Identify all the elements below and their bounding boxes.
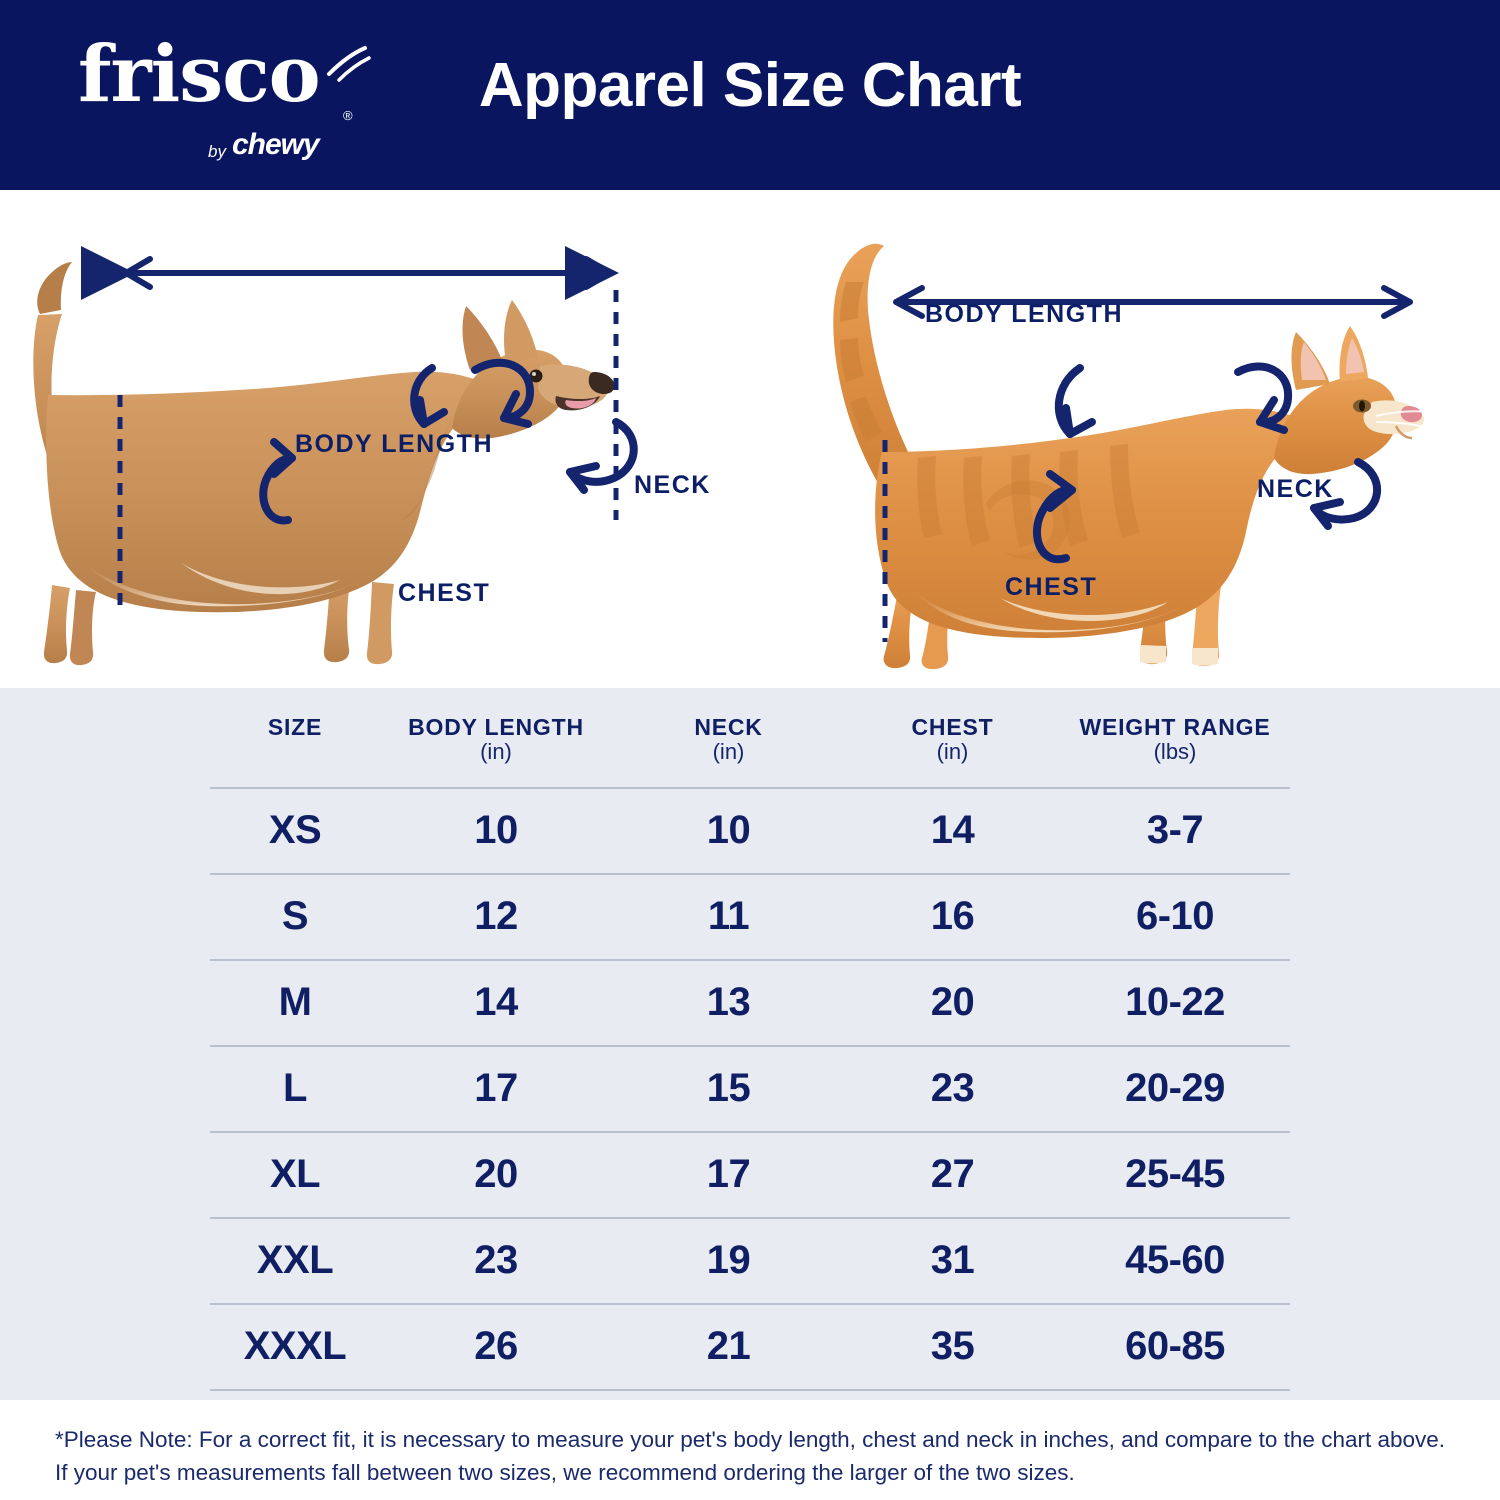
cat-neck-label: NECK: [1257, 475, 1334, 504]
cell-size: XXL: [210, 1218, 380, 1304]
column-header-body-length-label: BODY LENGTH: [408, 714, 584, 740]
cell-weight: 20-29: [1060, 1046, 1290, 1132]
column-header-body-length: BODY LENGTH (in): [380, 688, 612, 788]
cat-measurement-diagram: BODY LENGTH NECK CHEST: [750, 190, 1500, 688]
illustration-band: BODY LENGTH NECK CHEST: [0, 190, 1500, 688]
cell-size: S: [210, 874, 380, 960]
cell-weight: 3-7: [1060, 788, 1290, 874]
dog-neck-label: NECK: [634, 471, 711, 500]
cell-body-length: 20: [380, 1132, 612, 1218]
column-header-chest-label: CHEST: [912, 714, 994, 740]
cell-chest: 35: [845, 1304, 1060, 1390]
cell-chest: 23: [845, 1046, 1060, 1132]
cat-body-length-label: BODY LENGTH: [925, 300, 1123, 329]
cell-neck: 15: [612, 1046, 845, 1132]
header-bar: frisco ® by chewy Apparel Size Chart: [0, 0, 1500, 190]
cell-weight: 60-85: [1060, 1304, 1290, 1390]
cat-illustration: [750, 190, 1500, 688]
cell-chest: 14: [845, 788, 1060, 874]
table-header: SIZE BODY LENGTH (in) NECK (in) CHEST (i…: [210, 688, 1290, 788]
cell-chest: 27: [845, 1132, 1060, 1218]
cell-body-length: 10: [380, 788, 612, 874]
cell-size: XL: [210, 1132, 380, 1218]
cell-body-length: 26: [380, 1304, 612, 1390]
header-row: SIZE BODY LENGTH (in) NECK (in) CHEST (i…: [210, 688, 1290, 788]
cell-chest: 31: [845, 1218, 1060, 1304]
cat-chest-label: CHEST: [1005, 573, 1097, 602]
cell-weight: 10-22: [1060, 960, 1290, 1046]
table-row: L 17 15 23 20-29: [210, 1046, 1290, 1132]
column-header-neck-unit: (in): [612, 740, 845, 765]
cell-chest: 16: [845, 874, 1060, 960]
cell-weight: 6-10: [1060, 874, 1290, 960]
column-header-neck: NECK (in): [612, 688, 845, 788]
cell-neck: 17: [612, 1132, 845, 1218]
cell-body-length: 23: [380, 1218, 612, 1304]
size-chart-table: SIZE BODY LENGTH (in) NECK (in) CHEST (i…: [210, 688, 1290, 1391]
footnote-section: *Please Note: For a correct fit, it is n…: [0, 1400, 1500, 1500]
table-row: XXXL 26 21 35 60-85: [210, 1304, 1290, 1390]
column-header-weight-range-unit: (lbs): [1060, 740, 1290, 765]
cell-body-length: 17: [380, 1046, 612, 1132]
footnote-text: *Please Note: For a correct fit, it is n…: [55, 1424, 1450, 1489]
column-header-size-label: SIZE: [268, 714, 322, 740]
logo-by-text: by: [208, 142, 226, 162]
cell-size: XS: [210, 788, 380, 874]
column-header-chest: CHEST (in): [845, 688, 1060, 788]
cell-size: L: [210, 1046, 380, 1132]
cell-neck: 13: [612, 960, 845, 1046]
apparel-size-chart-page: frisco ® by chewy Apparel Size Chart: [0, 0, 1500, 1500]
column-header-weight-range: WEIGHT RANGE (lbs): [1060, 688, 1290, 788]
cell-body-length: 12: [380, 874, 612, 960]
table-body: XS 10 10 14 3-7 S 12 11 16 6-10 M 14 13: [210, 788, 1290, 1390]
table-row: S 12 11 16 6-10: [210, 874, 1290, 960]
dog-measurement-diagram: BODY LENGTH NECK CHEST: [0, 190, 750, 688]
table-row: XXL 23 19 31 45-60: [210, 1218, 1290, 1304]
page-title: Apparel Size Chart: [0, 50, 1500, 121]
dog-chest-label: CHEST: [398, 579, 490, 608]
column-header-chest-unit: (in): [845, 740, 1060, 765]
column-header-size: SIZE: [210, 688, 380, 788]
cell-chest: 20: [845, 960, 1060, 1046]
cell-size: M: [210, 960, 380, 1046]
table-row: XL 20 17 27 25-45: [210, 1132, 1290, 1218]
cell-size: XXXL: [210, 1304, 380, 1390]
cell-neck: 11: [612, 874, 845, 960]
logo-byline: by chewy: [208, 128, 319, 162]
table-row: XS 10 10 14 3-7: [210, 788, 1290, 874]
column-header-weight-range-label: WEIGHT RANGE: [1079, 714, 1270, 740]
cell-weight: 45-60: [1060, 1218, 1290, 1304]
column-header-neck-label: NECK: [694, 714, 762, 740]
cell-body-length: 14: [380, 960, 612, 1046]
column-header-body-length-unit: (in): [380, 740, 612, 765]
cell-neck: 19: [612, 1218, 845, 1304]
logo-chewy-text: chewy: [232, 128, 319, 162]
cell-neck: 10: [612, 788, 845, 874]
dog-body-length-label: BODY LENGTH: [295, 430, 493, 459]
table-row: M 14 13 20 10-22: [210, 960, 1290, 1046]
size-table-section: SIZE BODY LENGTH (in) NECK (in) CHEST (i…: [0, 688, 1500, 1400]
cell-weight: 25-45: [1060, 1132, 1290, 1218]
cell-neck: 21: [612, 1304, 845, 1390]
